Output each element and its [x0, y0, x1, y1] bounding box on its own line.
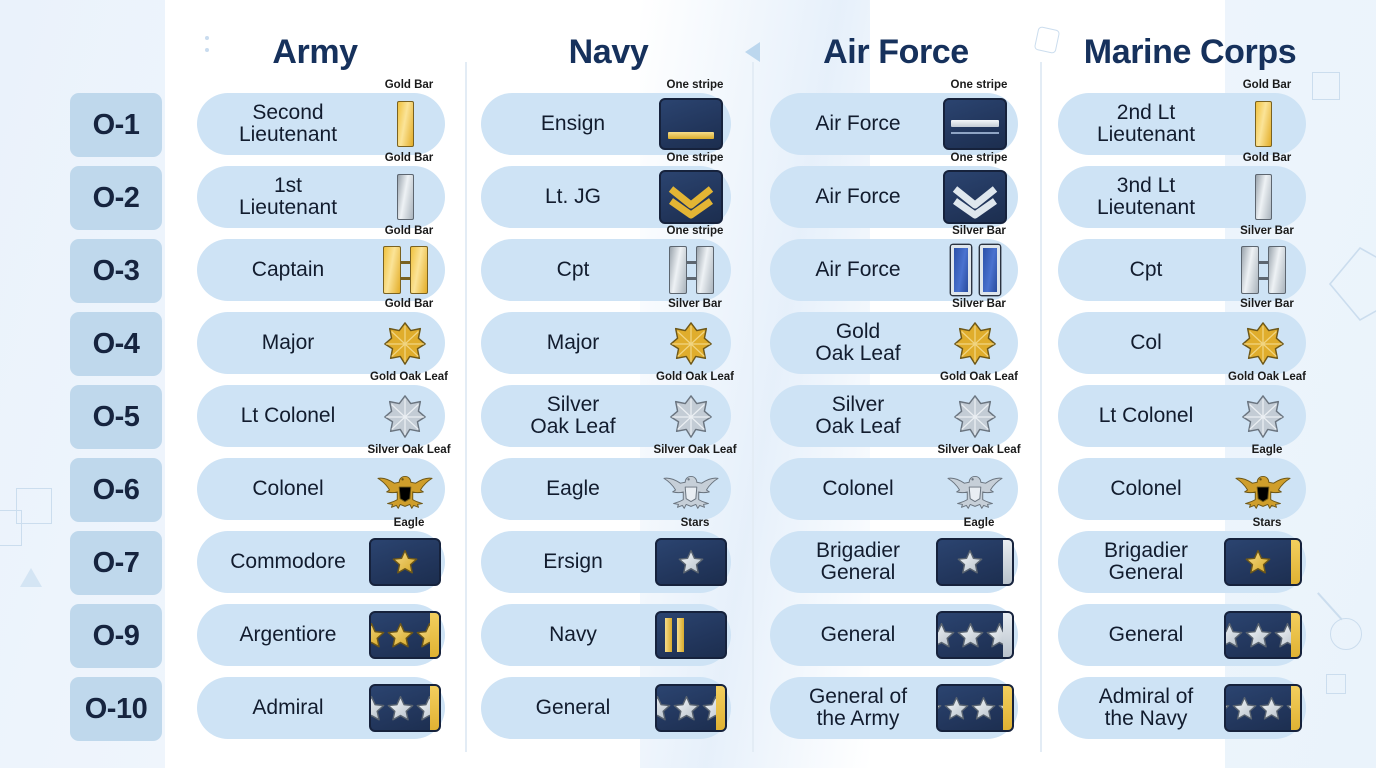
- insignia-caption: Gold Bar: [1188, 79, 1346, 91]
- rank-insignia-gold-oak-leaf: [1224, 320, 1302, 366]
- rank-label: Gold Oak Leaf: [770, 321, 936, 365]
- rank-cell[interactable]: Argentiore: [197, 604, 445, 666]
- rank-cell[interactable]: Silver Oak Leaf: [481, 385, 731, 447]
- rank-label: Ensign: [481, 113, 655, 135]
- rank-insignia-board-one-silver-stripe: [936, 98, 1014, 150]
- rank-label: Brigadier General: [1058, 540, 1224, 584]
- board-edge-gold: [430, 613, 439, 657]
- grade-badge-o-1: O-1: [70, 93, 162, 157]
- insignia-caption: One stripe: [619, 225, 771, 237]
- gold-eagle-insignia: [1235, 467, 1291, 511]
- gold-vertical-stripes: [665, 618, 684, 652]
- shoulder-board: [936, 538, 1014, 586]
- insignia-caption: Silver Oak Leaf: [900, 444, 1058, 456]
- rank-insignia-gold-eagle: [1224, 467, 1302, 511]
- rank-insignia-board-3-silver-stars-gold-edge: [369, 684, 441, 732]
- gold-bar-insignia: [1255, 101, 1272, 147]
- column-header-navy: Navy: [465, 33, 752, 72]
- rank-label: Col: [1058, 332, 1224, 354]
- rank-cell[interactable]: Air Force: [770, 239, 1018, 301]
- insignia-caption: Stars: [619, 517, 771, 529]
- insignia-caption: Silver Bar: [1188, 225, 1346, 237]
- rank-label: Admiral of the Navy: [1058, 686, 1224, 730]
- rank-label: Air Force: [770, 113, 936, 135]
- board-edge-gold: [1291, 540, 1300, 584]
- grade-badge-o-9: O-9: [70, 604, 162, 668]
- rank-label: Cpt: [481, 259, 655, 281]
- rank-label: Lt Colonel: [197, 405, 369, 427]
- rank-insignia-board-silver-chevron: [936, 170, 1014, 224]
- shoulder-board: [655, 538, 727, 586]
- service-column-army: ArmyGold BarSecond LieutenantGold Bar1st…: [165, 0, 465, 768]
- insignia-caption: Gold Bar: [333, 79, 485, 91]
- insignia-caption: Gold Oak Leaf: [900, 371, 1058, 383]
- gold-oak-leaf-insignia: [382, 320, 428, 366]
- insignia-caption: Gold Oak Leaf: [619, 371, 771, 383]
- shoulder-board: [943, 170, 1007, 224]
- silver-eagle-insignia: [663, 467, 719, 511]
- insignia-caption: Gold Bar: [333, 225, 485, 237]
- insignia-caption: Silver Oak Leaf: [333, 444, 485, 456]
- rank-cell[interactable]: General: [770, 604, 1018, 666]
- rank-insignia-silver-bar: [1224, 174, 1302, 220]
- insignia-caption: One stripe: [900, 152, 1058, 164]
- silver-oak-leaf-insignia: [382, 393, 428, 439]
- rank-insignia-gold-double-bar: [369, 246, 441, 294]
- gold-stripe: [668, 132, 714, 139]
- board-edge-gold: [1291, 613, 1300, 657]
- column-header-air-force: Air Force: [752, 33, 1040, 72]
- rank-insignia-gold-eagle: [369, 467, 441, 511]
- gold-bar-insignia: [397, 101, 414, 147]
- silver-oak-leaf-insignia: [952, 393, 998, 439]
- rank-label: Eagle: [481, 478, 655, 500]
- rank-cell[interactable]: Ersign: [481, 531, 731, 593]
- insignia-caption: Eagle: [333, 517, 485, 529]
- insignia-caption: Eagle: [900, 517, 1058, 529]
- rank-insignia-silver-oak-leaf: [655, 393, 727, 439]
- shoulder-board: [1224, 611, 1302, 659]
- grade-badge-o-10: O-10: [70, 677, 162, 741]
- rank-insignia-board-1-silver-star-silver-edge: [936, 538, 1014, 586]
- board-edge-gold: [1291, 686, 1300, 730]
- grade-badge-o-2: O-2: [70, 166, 162, 230]
- rank-label: 3nd Lt Lieutenant: [1058, 175, 1224, 219]
- rank-insignia-gold-bar: [1224, 101, 1302, 147]
- grade-badge-o-6: O-6: [70, 458, 162, 522]
- rank-cell[interactable]: Lt. JG: [481, 166, 731, 228]
- rank-cell[interactable]: Gold Oak Leaf: [770, 312, 1018, 374]
- rank-insignia-board-one-gold-stripe: [655, 98, 727, 150]
- gold-double-bar-insignia: [383, 246, 428, 294]
- rank-cell[interactable]: General of the Army: [770, 677, 1018, 739]
- insignia-caption: Gold Bar: [333, 152, 485, 164]
- rank-insignia-silver-eagle: [655, 467, 727, 511]
- rank-label: 1st Lieutenant: [197, 175, 369, 219]
- rank-label: Lt. JG: [481, 186, 655, 208]
- rank-cell[interactable]: Eagle: [481, 458, 731, 520]
- rank-label: Silver Oak Leaf: [770, 394, 936, 438]
- rank-label: Colonel: [770, 478, 936, 500]
- shoulder-board: [659, 98, 723, 150]
- rank-label: Ersign: [481, 551, 655, 573]
- rank-cell[interactable]: Major: [197, 312, 445, 374]
- rank-insignia-board-4-silver-stars-gold-edge: [936, 684, 1014, 732]
- insignia-caption: Gold Oak Leaf: [333, 371, 485, 383]
- shoulder-board: [369, 684, 441, 732]
- rank-cell[interactable]: Col: [1058, 312, 1306, 374]
- shoulder-board: [943, 98, 1007, 150]
- rank-cell[interactable]: Colonel: [1058, 458, 1306, 520]
- silver-eagle-insignia: [947, 467, 1003, 511]
- board-edge-silver: [1003, 613, 1012, 657]
- rank-cell[interactable]: Brigadier General: [1058, 531, 1306, 593]
- grade-badge-o-4: O-4: [70, 312, 162, 376]
- rank-label: Captain: [197, 259, 369, 281]
- rank-cell[interactable]: Lt Colonel: [197, 385, 445, 447]
- insignia-caption: Silver Bar: [619, 298, 771, 310]
- rank-cell[interactable]: Second Lieutenant: [197, 93, 445, 155]
- rank-cell[interactable]: Cpt: [1058, 239, 1306, 301]
- insignia-caption: Gold Oak Leaf: [1188, 371, 1346, 383]
- gold-oak-leaf-insignia: [668, 320, 714, 366]
- shoulder-board: [655, 611, 727, 659]
- rank-insignia-gold-oak-leaf: [655, 320, 727, 366]
- insignia-caption: Silver Oak Leaf: [619, 444, 771, 456]
- pay-grade-column: O-1O-2O-3O-4O-5O-6O-7O-9O-10: [70, 0, 162, 768]
- rank-insignia-silver-double-bar: [1224, 246, 1302, 294]
- rank-cell[interactable]: Admiral of the Navy: [1058, 677, 1306, 739]
- rank-label: General: [770, 624, 936, 646]
- grade-badge-o-3: O-3: [70, 239, 162, 303]
- rank-cell[interactable]: Cpt: [481, 239, 731, 301]
- silver-bar-insignia: [397, 174, 414, 220]
- rank-label: Cpt: [1058, 259, 1224, 281]
- rank-label: 2nd Lt Lieutenant: [1058, 102, 1224, 146]
- rank-insignia-silver-eagle: [936, 467, 1014, 511]
- rank-cell[interactable]: 1st Lieutenant: [197, 166, 445, 228]
- rank-insignia-gold-oak-leaf: [369, 320, 441, 366]
- rank-cell[interactable]: Brigadier General: [770, 531, 1018, 593]
- insignia-caption: Silver Bar: [900, 298, 1058, 310]
- silver-chevron: [949, 177, 1001, 217]
- insignia-caption: One stripe: [900, 79, 1058, 91]
- insignia-caption: Stars: [1188, 517, 1346, 529]
- rank-label: Air Force: [770, 259, 936, 281]
- rank-label: Silver Oak Leaf: [481, 394, 655, 438]
- rank-insignia-silver-bar: [369, 174, 441, 220]
- shoulder-board: [369, 538, 441, 586]
- rank-insignia-gold-bar: [369, 101, 441, 147]
- insignia-caption: Eagle: [1188, 444, 1346, 456]
- rank-insignia-silver-double-bar: [655, 246, 727, 294]
- shoulder-board: [936, 684, 1014, 732]
- shoulder-board: [1224, 684, 1302, 732]
- rank-label: Air Force: [770, 186, 936, 208]
- insignia-caption: One stripe: [619, 152, 771, 164]
- rank-cell[interactable]: Ensign: [481, 93, 731, 155]
- insignia-caption: Silver Bar: [1188, 298, 1346, 310]
- board-edge-gold: [430, 686, 439, 730]
- insignia-caption: Gold Bar: [1188, 152, 1346, 164]
- board-edge-gold: [1003, 686, 1012, 730]
- rank-insignia-board-3-silver-stars-gold-edge: [655, 684, 727, 732]
- shoulder-board: [936, 611, 1014, 659]
- rank-label: Major: [481, 332, 655, 354]
- rank-cell[interactable]: Navy: [481, 604, 731, 666]
- gold-oak-leaf-insignia: [952, 320, 998, 366]
- rank-cell[interactable]: Colonel: [197, 458, 445, 520]
- rank-label: Commodore: [197, 551, 369, 573]
- rank-cell[interactable]: Commodore: [197, 531, 445, 593]
- rank-label: Brigadier General: [770, 540, 936, 584]
- rank-insignia-silver-oak-leaf: [369, 393, 441, 439]
- rank-label: Colonel: [197, 478, 369, 500]
- rank-cell[interactable]: Captain: [197, 239, 445, 301]
- rank-cell[interactable]: 2nd Lt Lieutenant: [1058, 93, 1306, 155]
- rank-label: Colonel: [1058, 478, 1224, 500]
- insignia-caption: Silver Bar: [900, 225, 1058, 237]
- rank-cell[interactable]: Silver Oak Leaf: [770, 385, 1018, 447]
- rank-cell[interactable]: Admiral: [197, 677, 445, 739]
- rank-label: Navy: [481, 624, 655, 646]
- rank-chart-infographic: O-1O-2O-3O-4O-5O-6O-7O-9O-10 ArmyGold Ba…: [0, 0, 1376, 768]
- silver-oak-leaf-insignia: [668, 393, 714, 439]
- insignia-caption: One stripe: [619, 79, 771, 91]
- rank-label: Argentiore: [197, 624, 369, 646]
- rank-cell[interactable]: Lt Colonel: [1058, 385, 1306, 447]
- rank-cell[interactable]: Air Force: [770, 166, 1018, 228]
- rank-insignia-board-1-silver-star: [655, 538, 727, 586]
- silver-stripe: [951, 120, 999, 127]
- rank-insignia-board-gold-chevron: [655, 170, 727, 224]
- column-header-army: Army: [165, 33, 465, 72]
- shoulder-board: [1224, 538, 1302, 586]
- rank-insignia-board-4-silver-stars-gold-edge: [1224, 684, 1302, 732]
- rank-insignia-silver-oak-leaf: [936, 393, 1014, 439]
- silver-double-bar-insignia: [1241, 246, 1286, 294]
- grade-badge-o-5: O-5: [70, 385, 162, 449]
- board-edge-gold: [716, 686, 725, 730]
- rank-label: General: [1058, 624, 1224, 646]
- rank-insignia-silver-oak-leaf: [1224, 393, 1302, 439]
- shoulder-board: [659, 170, 723, 224]
- rank-cell[interactable]: Air Force: [770, 93, 1018, 155]
- shoulder-board: [655, 684, 727, 732]
- silver-bar-insignia: [1255, 174, 1272, 220]
- rank-insignia-board-3-gold-stars-gold-edge: [369, 611, 441, 659]
- air-force-double-bar-insignia: [951, 245, 1000, 295]
- service-column-air-force: Air ForceOne stripeAir Force One stripeA…: [752, 0, 1040, 768]
- rank-cell[interactable]: 3nd Lt Lieutenant: [1058, 166, 1306, 228]
- silver-oak-leaf-insignia: [1240, 393, 1286, 439]
- rank-label: Lt Colonel: [1058, 405, 1224, 427]
- board-edge-silver: [1003, 540, 1012, 584]
- rank-label: Second Lieutenant: [197, 102, 369, 146]
- rank-label: General: [481, 697, 655, 719]
- rank-label: General of the Army: [770, 686, 936, 730]
- rank-insignia-af-double-blue-bar: [936, 245, 1014, 295]
- rank-insignia-board-1-gold-star-gold-edge: [1224, 538, 1302, 586]
- rank-insignia-board-1-gold-star: [369, 538, 441, 586]
- silver-double-bar-insignia: [669, 246, 714, 294]
- service-column-marine-corps: Marine CorpsGold Bar2nd Lt LieutenantGol…: [1040, 0, 1340, 768]
- service-column-navy: NavyOne stripeEnsignOne stripeLt. JGOne …: [465, 0, 752, 768]
- rank-insignia-board-3-silver-stars-gold-edge: [1224, 611, 1302, 659]
- shoulder-board: [369, 611, 441, 659]
- rank-label: Major: [197, 332, 369, 354]
- gold-chevron: [665, 177, 717, 217]
- rank-cell[interactable]: General: [1058, 604, 1306, 666]
- rank-insignia-board-3-silver-stars-silver-edge: [936, 611, 1014, 659]
- rank-cell[interactable]: Colonel: [770, 458, 1018, 520]
- rank-cell[interactable]: General: [481, 677, 731, 739]
- column-header-marine-corps: Marine Corps: [1040, 33, 1340, 72]
- rank-insignia-gold-oak-leaf: [936, 320, 1014, 366]
- insignia-caption: Gold Bar: [333, 298, 485, 310]
- grade-badge-o-7: O-7: [70, 531, 162, 595]
- gold-oak-leaf-insignia: [1240, 320, 1286, 366]
- rank-insignia-board-two-gold-vstripes: [655, 611, 727, 659]
- gold-eagle-insignia: [377, 467, 433, 511]
- rank-label: Admiral: [197, 697, 369, 719]
- rank-cell[interactable]: Major: [481, 312, 731, 374]
